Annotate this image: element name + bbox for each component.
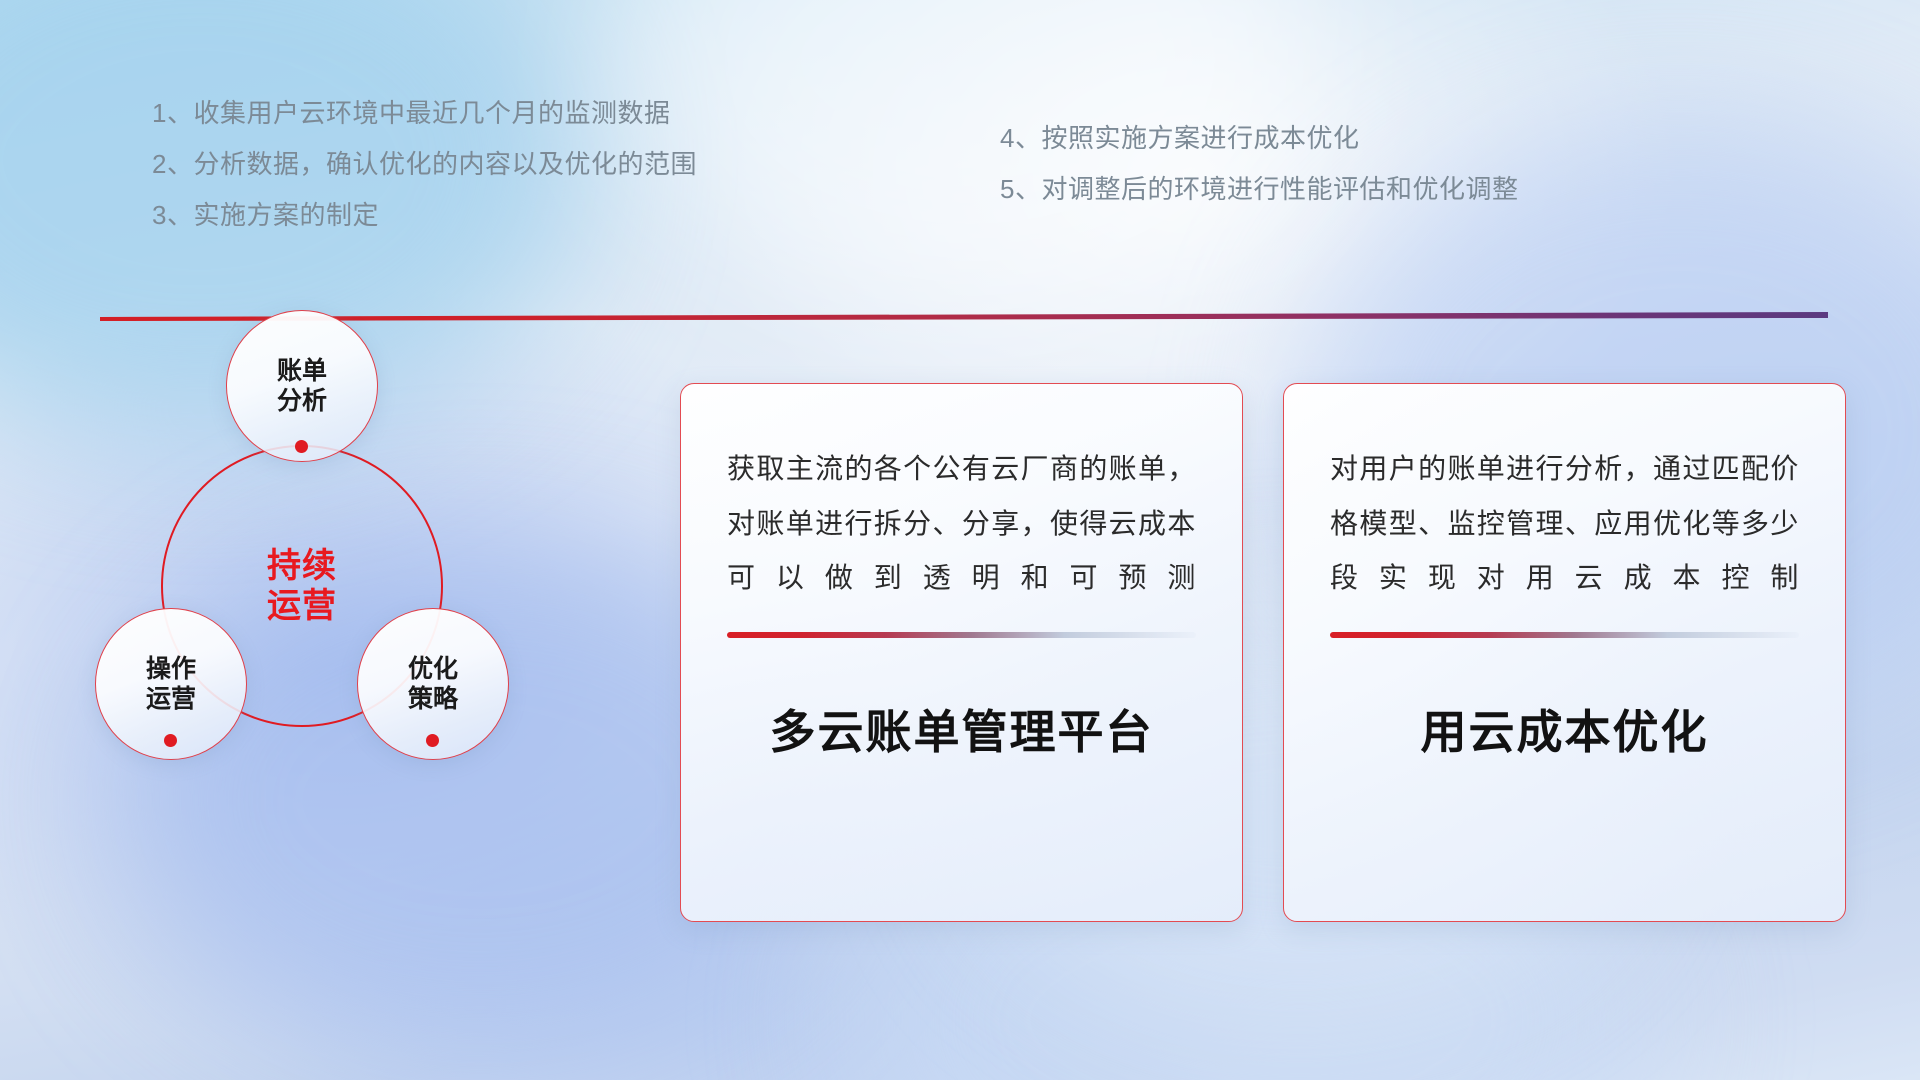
venn-connector-dot bbox=[164, 734, 177, 747]
bullet-item: 4、按照实施方案进行成本优化 bbox=[1000, 125, 1518, 151]
info-card-body: 获取主流的各个公有云厂商的账单，对账单进行拆分、分享，使得云成本可以做到透明和可… bbox=[727, 442, 1196, 606]
info-card-1[interactable]: 获取主流的各个公有云厂商的账单，对账单进行拆分、分享，使得云成本可以做到透明和可… bbox=[680, 383, 1243, 922]
bullet-item: 3、实施方案的制定 bbox=[152, 202, 697, 228]
bullet-item: 5、对调整后的环境进行性能评估和优化调整 bbox=[1000, 176, 1518, 202]
info-card-title: 用云成本优化 bbox=[1330, 696, 1799, 762]
venn-node-label: 优化 策略 bbox=[408, 654, 458, 715]
bullet-item: 1、收集用户云环境中最近几个月的监测数据 bbox=[152, 100, 697, 126]
venn-connector-dot bbox=[426, 734, 439, 747]
venn-node-label: 账单 分析 bbox=[277, 356, 327, 417]
venn-node-label: 操作 运营 bbox=[146, 654, 196, 715]
bullet-item: 2、分析数据，确认优化的内容以及优化的范围 bbox=[152, 151, 697, 177]
info-card-body: 对用户的账单进行分析，通过匹配价格模型、监控管理、应用优化等多少段实现对用云成本… bbox=[1330, 442, 1799, 606]
venn-connector-dot bbox=[295, 440, 308, 453]
bullet-list-right: 4、按照实施方案进行成本优化 5、对调整后的环境进行性能评估和优化调整 bbox=[1000, 125, 1518, 202]
bullet-list-left: 1、收集用户云环境中最近几个月的监测数据 2、分析数据，确认优化的内容以及优化的… bbox=[152, 100, 697, 228]
info-card-title: 多云账单管理平台 bbox=[727, 696, 1196, 762]
info-card-rule bbox=[727, 632, 1196, 638]
slide-canvas: 1、收集用户云环境中最近几个月的监测数据 2、分析数据，确认优化的内容以及优化的… bbox=[0, 0, 1920, 1080]
info-card-2[interactable]: 对用户的账单进行分析，通过匹配价格模型、监控管理、应用优化等多少段实现对用云成本… bbox=[1283, 383, 1846, 922]
info-card-rule bbox=[1330, 632, 1799, 638]
venn-center-label: 持续 运营 bbox=[267, 546, 337, 626]
venn-diagram: 持续 运营 账单 分析 操作 运营 优化 策略 bbox=[95, 300, 575, 780]
